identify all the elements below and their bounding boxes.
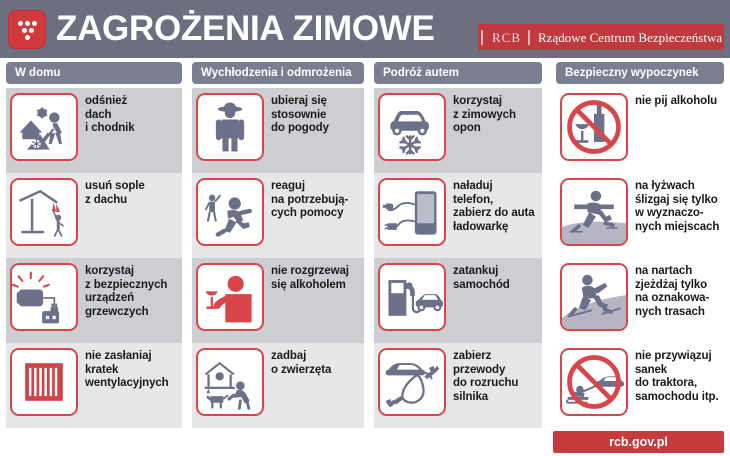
column-header-bezpieczny-wypoczynek: Bezpieczny wypoczynek bbox=[556, 62, 724, 84]
list-item[interactable]: nie pij alkoholu bbox=[560, 93, 724, 161]
ice-skater-icon bbox=[560, 178, 628, 246]
rcb-mark: RCB bbox=[481, 30, 530, 45]
list-item-label: reaguj na potrzebują- cych pomocy bbox=[264, 178, 348, 221]
list-item-label: zatankuj samochód bbox=[446, 263, 510, 292]
list-item-label: usuń sople z dachu bbox=[78, 178, 145, 207]
list-item[interactable]: zatankuj samochód bbox=[378, 263, 542, 331]
page-header: ZAGROŻENIA ZIMOWE RCB Rządowe Centrum Be… bbox=[0, 0, 730, 58]
list-item-label: nie rozgrzewaj się alkoholem bbox=[264, 263, 349, 292]
column-header-podroz-autem: Podróż autem bbox=[374, 62, 542, 84]
rcb-full-name: Rządowe Centrum Bezpieczeństwa bbox=[530, 30, 722, 45]
list-item[interactable]: korzystaj z bezpiecznych urządzeń grzewc… bbox=[10, 263, 182, 331]
list-item[interactable]: nie przywiązuj sanek do traktora, samoch… bbox=[560, 348, 724, 416]
list-item-label: naładuj telefon, zabierz do auta ładowar… bbox=[446, 178, 535, 234]
page-title: ZAGROŻENIA ZIMOWE bbox=[56, 7, 435, 51]
list-item[interactable]: korzystaj z zimowych opon bbox=[378, 93, 542, 161]
jumper-cables-car-icon bbox=[378, 348, 446, 416]
column-podroz-autem: korzystaj z zimowych opon naładuj telefo… bbox=[374, 88, 542, 428]
pet-care-kennel-icon bbox=[196, 348, 264, 416]
no-alcohol-prohibition-icon bbox=[560, 93, 628, 161]
list-item-label: na łyżwach ślizgaj się tylko w wyznaczo-… bbox=[628, 178, 719, 234]
list-item-label: na nartach zjeżdżaj tylko na oznakowa- n… bbox=[628, 263, 709, 319]
list-item-label: zadbaj o zwierzęta bbox=[264, 348, 331, 377]
fuel-pump-car-icon bbox=[378, 263, 446, 331]
column-header-w-domu: W domu bbox=[6, 62, 182, 84]
no-sled-towing-prohibition-icon bbox=[560, 348, 628, 416]
person-helping-running-icon bbox=[196, 178, 264, 246]
list-item[interactable]: zabierz przewody do rozruchu silnika bbox=[378, 348, 542, 416]
list-item[interactable]: zadbaj o zwierzęta bbox=[196, 348, 364, 416]
list-item-label: korzystaj z bezpiecznych urządzeń grzewc… bbox=[78, 263, 167, 319]
list-item[interactable]: nie zasłaniaj kratek wentylacyjnych bbox=[10, 348, 182, 416]
list-item[interactable]: na nartach zjeżdżaj tylko na oznakowa- n… bbox=[560, 263, 724, 331]
list-item[interactable]: na łyżwach ślizgaj się tylko w wyznaczo-… bbox=[560, 178, 724, 246]
rcb-logo: RCB Rządowe Centrum Bezpieczeństwa bbox=[478, 24, 724, 50]
list-item-label: nie zasłaniaj kratek wentylacyjnych bbox=[78, 348, 169, 391]
list-item-label: nie pij alkoholu bbox=[628, 93, 717, 109]
column-wychlodzenia: ubieraj się stosownie do pogody bbox=[192, 88, 364, 428]
list-item-label: nie przywiązuj sanek do traktora, samoch… bbox=[628, 348, 719, 404]
icicle-removal-icon bbox=[10, 178, 78, 246]
list-item-label: zabierz przewody do rozruchu silnika bbox=[446, 348, 518, 404]
person-winter-clothing-icon bbox=[196, 93, 264, 161]
rcb-website-url[interactable]: rcb.gov.pl bbox=[553, 431, 724, 453]
snowflake-dots-logo-icon bbox=[8, 10, 46, 49]
skier-downhill-icon bbox=[560, 263, 628, 331]
ventilation-grille-icon bbox=[10, 348, 78, 416]
list-item[interactable]: nie rozgrzewaj się alkoholem bbox=[196, 263, 364, 331]
list-item[interactable]: odśnież dach i chodnik bbox=[10, 93, 182, 161]
car-winter-tyres-snowflake-icon bbox=[378, 93, 446, 161]
list-item-label: korzystaj z zimowych opon bbox=[446, 93, 516, 136]
house-snow-shoveling-icon bbox=[10, 93, 78, 161]
column-w-domu: odśnież dach i chodnik usuń sople z dach… bbox=[6, 88, 182, 428]
phone-charger-icon bbox=[378, 178, 446, 246]
list-item-label: odśnież dach i chodnik bbox=[78, 93, 135, 136]
list-item-label: ubieraj się stosownie do pogody bbox=[264, 93, 329, 136]
column-header-wychlodzenia: Wychłodzenia i odmrożenia bbox=[192, 62, 364, 84]
list-item[interactable]: reaguj na potrzebują- cych pomocy bbox=[196, 178, 364, 246]
column-bezpieczny-wypoczynek: nie pij alkoholu na łyżwach ślizgaj się … bbox=[556, 88, 724, 428]
list-item[interactable]: naładuj telefon, zabierz do auta ładowar… bbox=[378, 178, 542, 246]
heater-plug-socket-icon bbox=[10, 263, 78, 331]
list-item[interactable]: ubieraj się stosownie do pogody bbox=[196, 93, 364, 161]
no-alcohol-warming-icon bbox=[196, 263, 264, 331]
list-item[interactable]: usuń sople z dachu bbox=[10, 178, 182, 246]
